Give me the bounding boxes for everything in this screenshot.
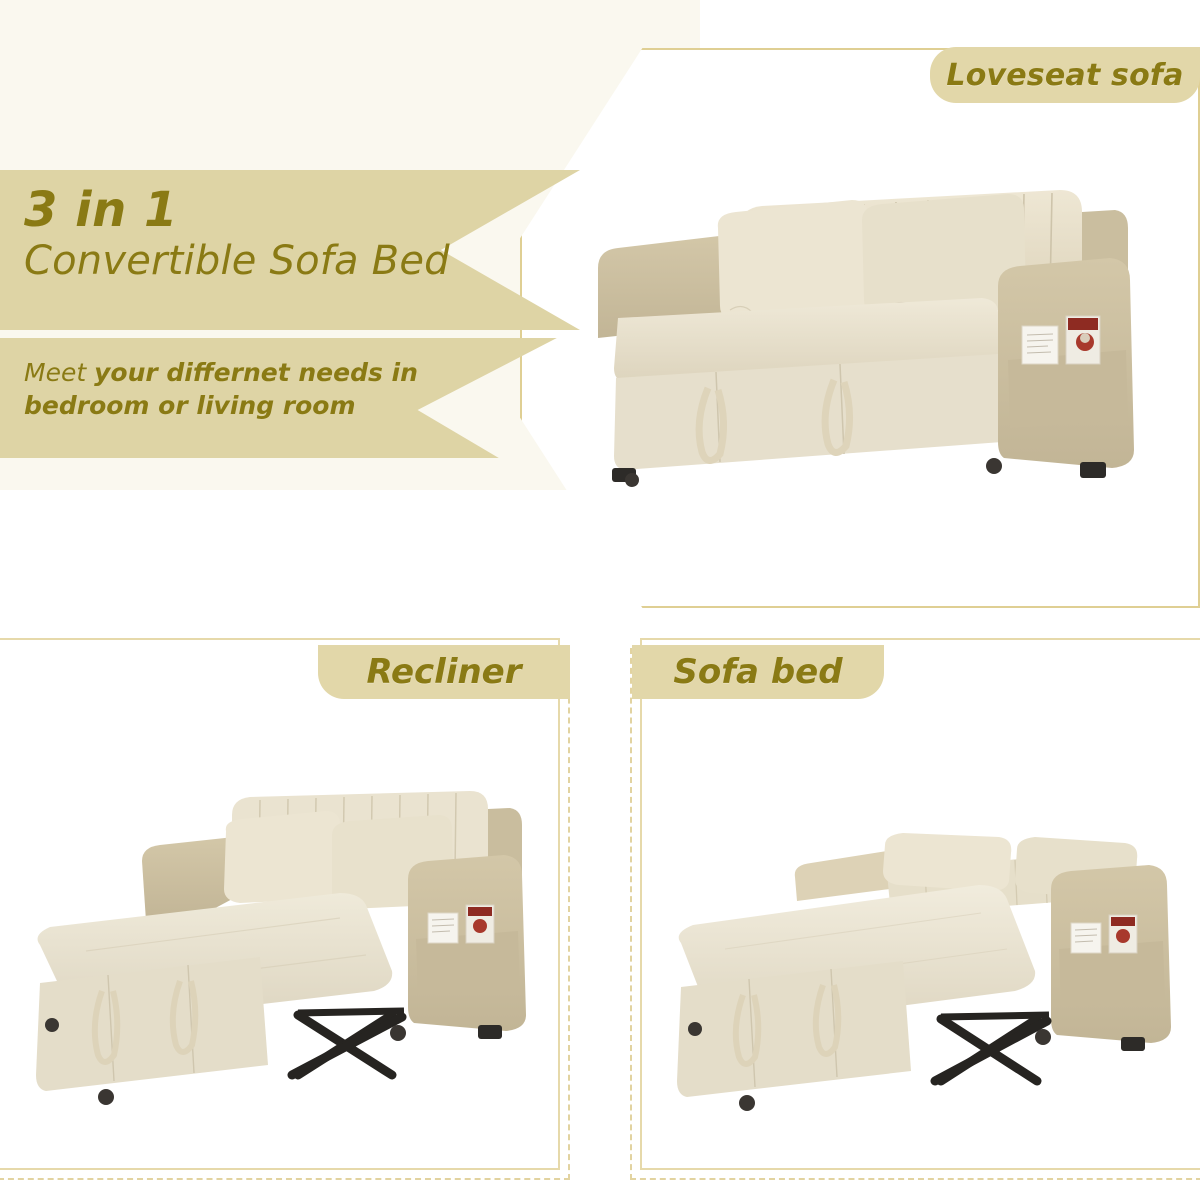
tab-recliner: Recliner xyxy=(318,645,570,699)
tab-loveseat-label: Loveseat sofa xyxy=(946,58,1183,93)
tab-loveseat-sofa: Loveseat sofa xyxy=(930,47,1200,103)
tab-recliner-label: Recliner xyxy=(366,652,521,692)
headline-title: Convertible Sofa Bed xyxy=(24,240,544,282)
headline-text-group: 3 in 1 Convertible Sofa Bed xyxy=(24,186,544,282)
loveseat-sofa-image xyxy=(590,150,1190,530)
headline-eyebrow: 3 in 1 xyxy=(24,186,544,234)
sofabed-image xyxy=(655,815,1185,1155)
tab-sofa-bed: Sofa bed xyxy=(632,645,884,699)
hero-section: 3 in 1 Convertible Sofa Bed Meet your di… xyxy=(0,0,1200,625)
recliner-sofa-image xyxy=(10,775,555,1150)
subtitle-light-part: Meet xyxy=(24,358,94,387)
headline-subtitle: Meet your differnet needs in bedroom or … xyxy=(24,356,494,422)
tab-sofabed-label: Sofa bed xyxy=(673,652,842,692)
